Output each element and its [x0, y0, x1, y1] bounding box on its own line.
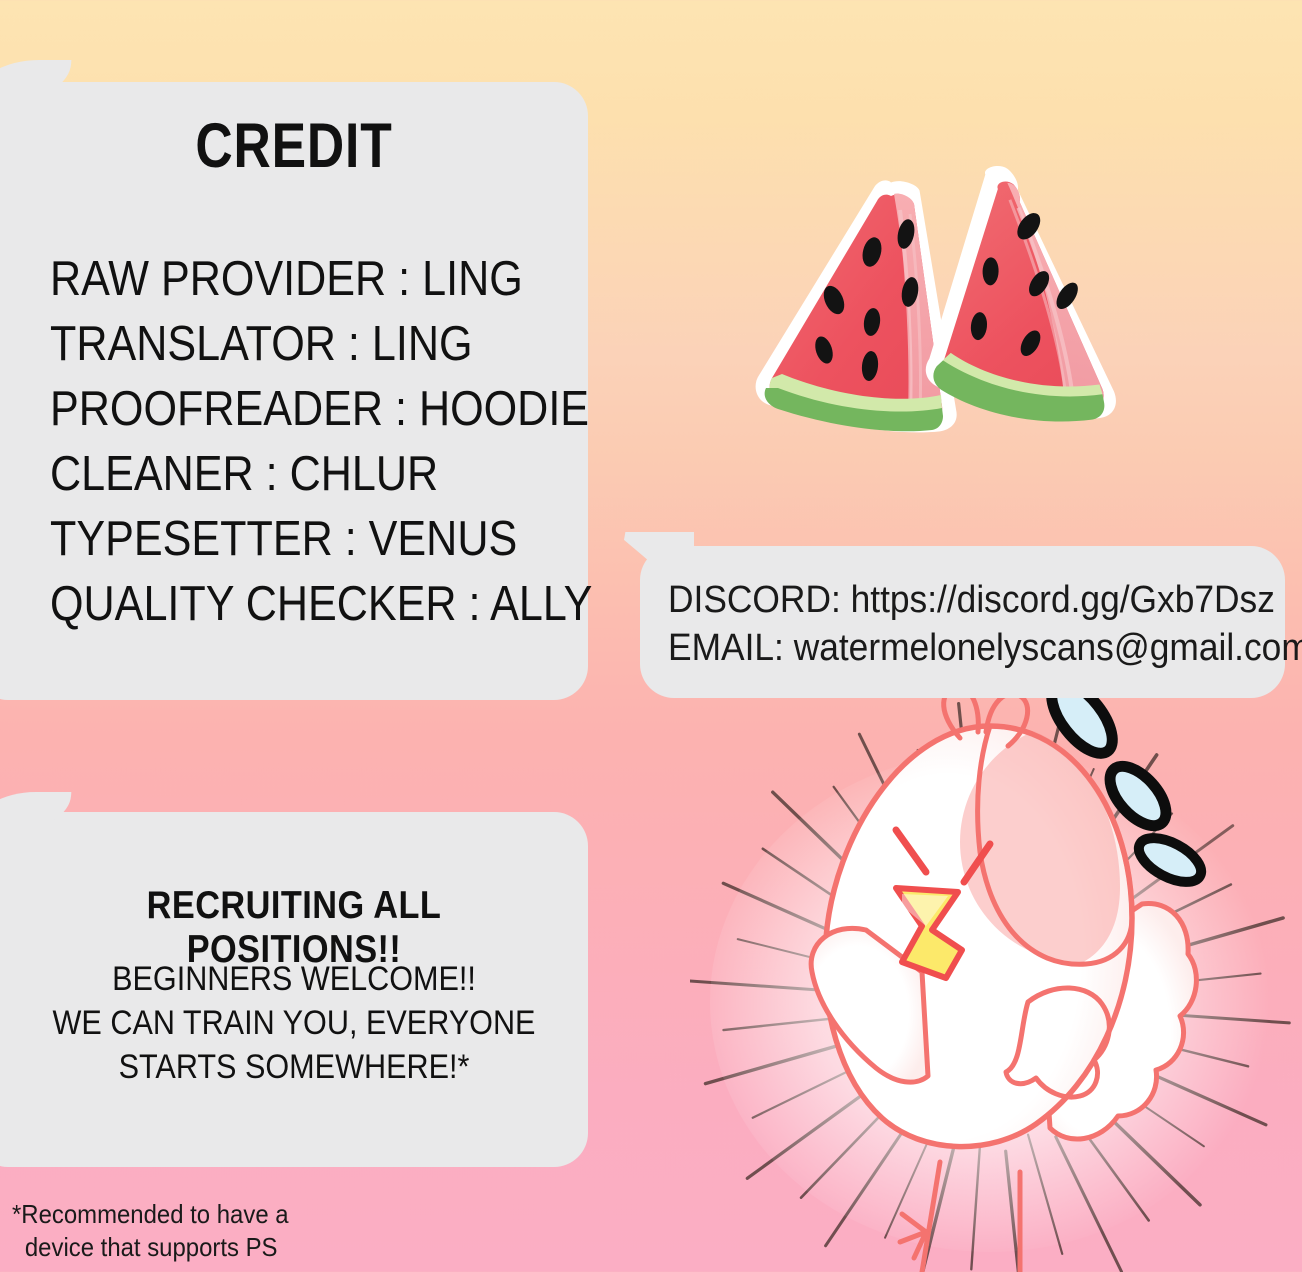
watermelon-slice-right	[920, 166, 1160, 437]
chicken-svg	[690, 672, 1302, 1272]
recruiting-bubble: RECRUITING ALL POSITIONS!! BEGINNERS WEL…	[0, 812, 588, 1167]
credit-role-list: RAW PROVIDER : LING TRANSLATOR : LING PR…	[50, 247, 580, 637]
credit-bubble-tail	[0, 60, 71, 100]
credit-bubble: CREDIT RAW PROVIDER : LING TRANSLATOR : …	[0, 82, 588, 700]
credit-role-translator: TRANSLATOR : LING	[50, 312, 516, 377]
contact-bubble: DISCORD: https://discord.gg/Gxb7Dsz EMAI…	[640, 546, 1285, 698]
recruiting-line-3: STARTS SOMEWHERE!*	[29, 1045, 558, 1089]
credit-role-cleaner: CLEANER : CHLUR	[50, 442, 516, 507]
credit-title: CREDIT	[53, 110, 535, 182]
recruiting-bubble-tail	[0, 792, 71, 830]
credit-role-proofreader: PROOFREADER : HOODIE	[50, 377, 516, 442]
poster-canvas: CREDIT RAW PROVIDER : LING TRANSLATOR : …	[0, 0, 1302, 1272]
recruiting-line-2: WE CAN TRAIN YOU, EVERYONE	[29, 1001, 558, 1045]
footnote-line-1: *Recommended to have a	[12, 1198, 398, 1231]
watermelon-svg	[742, 166, 1162, 456]
angry-chicken-illustration	[690, 672, 1302, 1272]
footnote-line-2: device that supports PS	[12, 1231, 398, 1264]
footnote: *Recommended to have a device that suppo…	[12, 1198, 432, 1264]
credit-role-quality-checker: QUALITY CHECKER : ALLY	[50, 572, 516, 637]
credit-role-typesetter: TYPESETTER : VENUS	[50, 507, 516, 572]
watermelon-slice-left	[756, 180, 957, 432]
credit-role-raw-provider: RAW PROVIDER : LING	[50, 247, 516, 312]
recruiting-body: BEGINNERS WELCOME!! WE CAN TRAIN YOU, EV…	[0, 957, 588, 1089]
discord-link[interactable]: DISCORD: https://discord.gg/Gxb7Dsz	[668, 579, 1275, 622]
email-address[interactable]: EMAIL: watermelonelyscans@gmail.com	[668, 627, 1302, 670]
recruiting-line-1: BEGINNERS WELCOME!!	[29, 957, 558, 1001]
watermelon-slices-illustration	[742, 166, 1162, 456]
